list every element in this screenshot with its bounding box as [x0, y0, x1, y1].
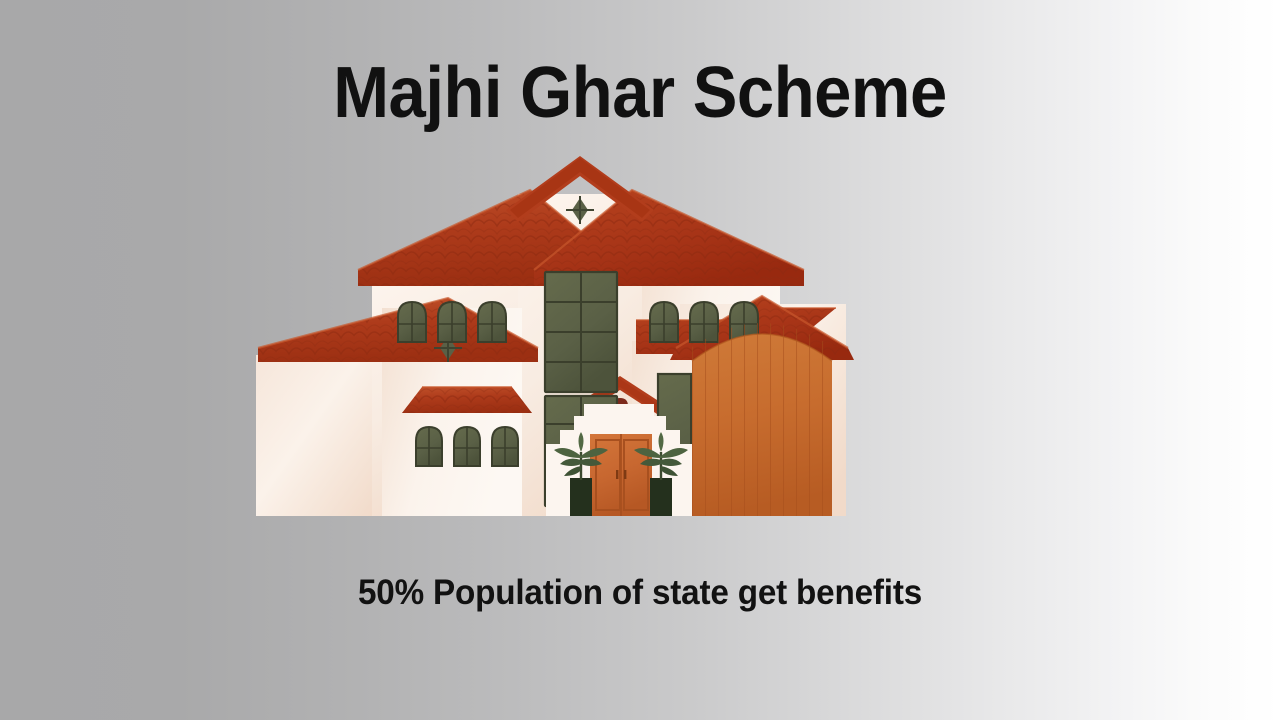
- house-illustration: [250, 148, 960, 516]
- house-illustration-svg: [250, 148, 960, 516]
- upper-center-window[interactable]: [545, 272, 617, 392]
- upper-left-arched-windows[interactable]: [398, 302, 506, 342]
- page-title: Majhi Ghar Scheme: [45, 50, 1235, 136]
- lower-left-arched-windows[interactable]: [416, 427, 518, 466]
- awning-roof: [402, 387, 532, 413]
- entry-door[interactable]: [590, 434, 652, 516]
- poster-canvas: Majhi Ghar Scheme: [0, 0, 1280, 720]
- garage-door[interactable]: [688, 318, 838, 516]
- page-subtitle: 50% Population of state get benefits: [32, 572, 1248, 614]
